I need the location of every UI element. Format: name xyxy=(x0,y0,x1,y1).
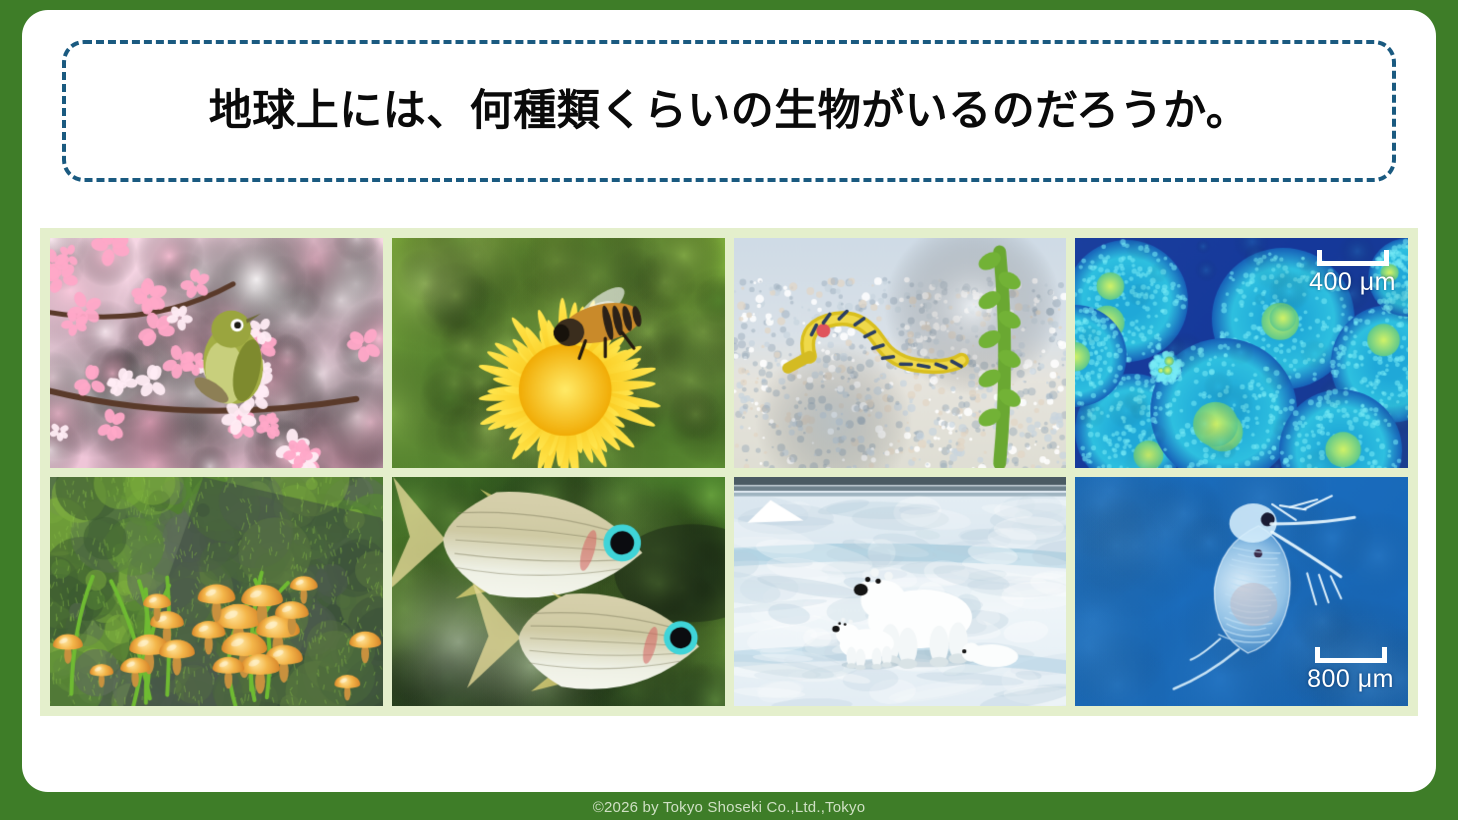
honeybee-image xyxy=(392,238,725,468)
seahorse-image xyxy=(734,238,1067,468)
photo-grid-panel: 400 μm 800 μm xyxy=(40,228,1418,716)
medaka-fish-image xyxy=(392,477,725,707)
mushrooms-image xyxy=(50,477,383,707)
daphnia-micrograph-image xyxy=(1075,477,1408,707)
photo-volvox[interactable]: 400 μm xyxy=(1075,238,1408,468)
polar-bears-image xyxy=(734,477,1067,707)
page-title: 地球上には、何種類くらいの生物がいるのだろうか。 xyxy=(209,90,1250,133)
photo-polar-bears[interactable] xyxy=(734,477,1067,707)
photo-honeybee[interactable] xyxy=(392,238,725,468)
japanese-white-eye-image xyxy=(50,238,383,468)
volvox-micrograph-image xyxy=(1075,238,1408,468)
photo-daphnia[interactable]: 800 μm xyxy=(1075,477,1408,707)
slide-frame: 地球上には、何種類くらいの生物がいるのだろうか。 400 μm xyxy=(0,0,1458,820)
photo-seahorse[interactable] xyxy=(734,238,1067,468)
footer-copyright: ©2026 by Tokyo Shoseki Co.,Ltd.,Tokyo xyxy=(0,799,1458,816)
title-callout-box: 地球上には、何種類くらいの生物がいるのだろうか。 xyxy=(62,40,1396,182)
photo-medaka[interactable] xyxy=(392,477,725,707)
slide-card: 地球上には、何種類くらいの生物がいるのだろうか。 400 μm xyxy=(22,10,1436,792)
photo-mushrooms[interactable] xyxy=(50,477,383,707)
photo-japanese-white-eye[interactable] xyxy=(50,238,383,468)
